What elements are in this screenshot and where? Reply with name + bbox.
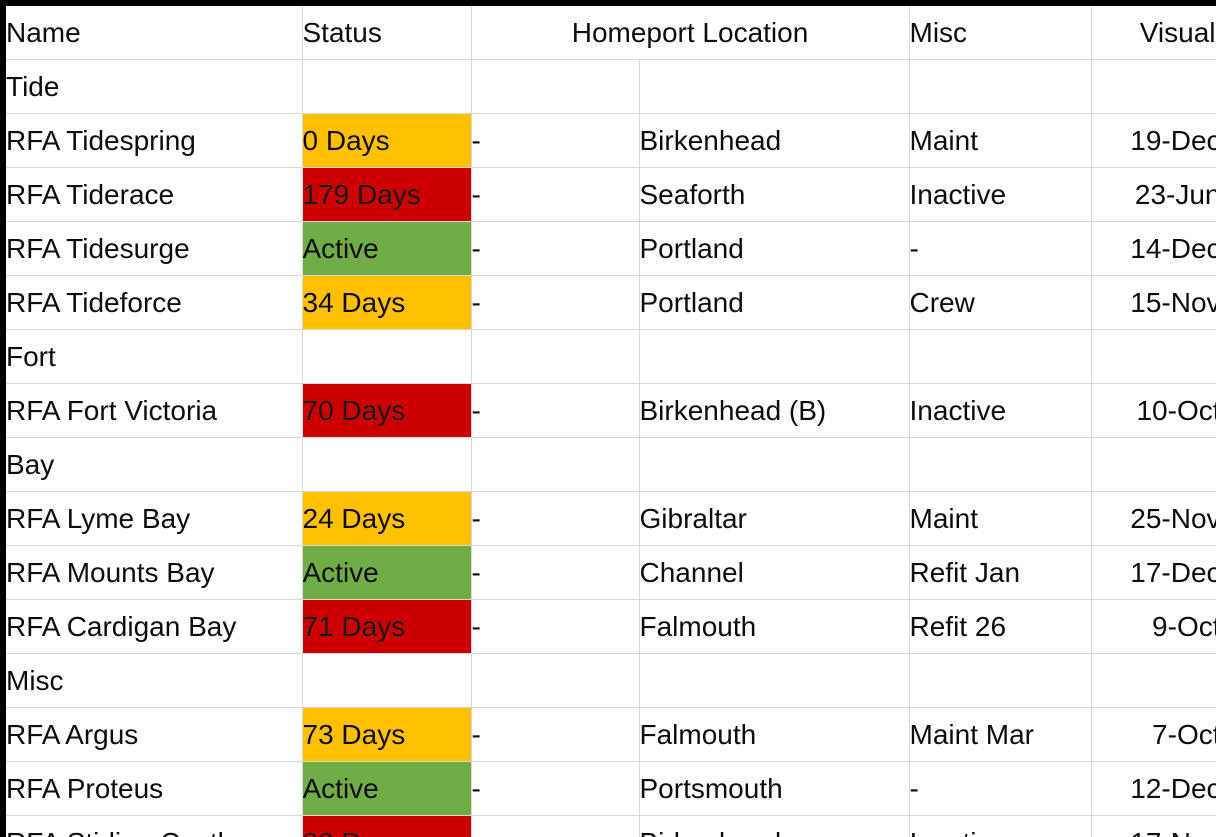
secondary-status[interactable]: - (471, 384, 639, 438)
table-row[interactable]: RFA ProteusActive-Portsmouth-12-Dec (6, 762, 1216, 816)
homeport-location[interactable]: Channel (639, 546, 909, 600)
homeport-location[interactable]: Portland (639, 276, 909, 330)
status-badge[interactable]: 71 Days (302, 600, 471, 654)
secondary-status[interactable]: - (471, 708, 639, 762)
visual-date[interactable]: 17-Nov (1091, 816, 1216, 837)
homeport-location[interactable] (639, 60, 909, 114)
homeport-location[interactable]: Birkenhead (B) (639, 384, 909, 438)
status-badge[interactable] (302, 654, 471, 708)
visual-date-text: 23-Jun (1091, 179, 1216, 211)
table-row[interactable]: RFA Argus73 Days-FalmouthMaint Mar7-Oct (6, 708, 1216, 762)
ship-name[interactable]: RFA Tidesurge (6, 222, 302, 276)
status-badge[interactable]: 34 Days (302, 276, 471, 330)
homeport-location[interactable] (639, 330, 909, 384)
status-badge[interactable]: 24 Days (302, 492, 471, 546)
misc-note[interactable] (909, 654, 1091, 708)
visual-date-text: 19-Dec (1091, 125, 1216, 157)
column-header-misc[interactable]: Misc (909, 6, 1091, 60)
secondary-status[interactable]: - (471, 816, 639, 837)
group-header-row[interactable]: Misc (6, 654, 1216, 708)
secondary-status[interactable]: - (471, 762, 639, 816)
homeport-location[interactable]: Birkenhead (639, 816, 909, 837)
secondary-status[interactable]: - (471, 546, 639, 600)
misc-note[interactable]: - (909, 762, 1091, 816)
visual-date-text: 15-Nov (1091, 287, 1216, 319)
misc-note[interactable]: Crew (909, 276, 1091, 330)
secondary-status[interactable]: - (471, 492, 639, 546)
visual-date-text: 17-Nov (1091, 827, 1216, 837)
misc-note[interactable]: Inactive (909, 816, 1091, 837)
table-row[interactable]: RFA Tideforce34 Days-PortlandCrew15-Nov (6, 276, 1216, 330)
table-row[interactable]: RFA Stirling Castle32 Days-BirkenheadIna… (6, 816, 1216, 837)
table-row[interactable]: RFA Mounts BayActive-ChannelRefit Jan17-… (6, 546, 1216, 600)
column-header-name[interactable]: Name (6, 6, 302, 60)
visual-date-text: 7-Oct (1091, 719, 1216, 751)
status-badge[interactable]: Active (302, 762, 471, 816)
status-badge[interactable]: 179 Days (302, 168, 471, 222)
status-badge[interactable] (302, 330, 471, 384)
group-header-row[interactable]: Bay (6, 438, 1216, 492)
status-badge[interactable]: Active (302, 546, 471, 600)
homeport-location[interactable]: Seaforth (639, 168, 909, 222)
secondary-status[interactable] (471, 654, 639, 708)
column-header-status[interactable]: Status (302, 6, 471, 60)
visual-date-text: 17-Dec (1091, 557, 1216, 589)
column-header-homeport-location[interactable]: Homeport Location (471, 6, 909, 60)
visual-date[interactable]: 14-Dec (1091, 222, 1216, 276)
ship-name[interactable]: RFA Mounts Bay (6, 546, 302, 600)
visual-date[interactable] (1091, 60, 1216, 114)
secondary-status[interactable]: - (471, 222, 639, 276)
homeport-location[interactable]: Portland (639, 222, 909, 276)
group-header-row[interactable]: Fort (6, 330, 1216, 384)
secondary-status[interactable] (471, 438, 639, 492)
misc-note[interactable]: Maint (909, 492, 1091, 546)
secondary-status[interactable]: - (471, 114, 639, 168)
table-row[interactable]: RFA Cardigan Bay71 Days-FalmouthRefit 26… (6, 600, 1216, 654)
misc-note[interactable]: Inactive (909, 168, 1091, 222)
table-body: TideRFA Tidespring0 Days-BirkenheadMaint… (6, 60, 1216, 837)
visual-date[interactable]: 10-Oct (1091, 384, 1216, 438)
misc-note[interactable]: Refit Jan (909, 546, 1091, 600)
group-label[interactable]: Tide (6, 60, 302, 114)
status-badge[interactable] (302, 60, 471, 114)
homeport-location[interactable] (639, 654, 909, 708)
group-header-row[interactable]: Tide (6, 60, 1216, 114)
ship-name[interactable]: RFA Cardigan Bay (6, 600, 302, 654)
visual-date[interactable]: 7-Oct (1091, 708, 1216, 762)
table-row[interactable]: RFA TidesurgeActive-Portland-14-Dec (6, 222, 1216, 276)
status-badge[interactable]: Active (302, 222, 471, 276)
visual-date[interactable] (1091, 654, 1216, 708)
visual-date[interactable] (1091, 438, 1216, 492)
visual-date[interactable]: 17-Dec (1091, 546, 1216, 600)
homeport-location[interactable]: Birkenhead (639, 114, 909, 168)
spreadsheet-frame: Name Status Homeport Location Misc Visua… (0, 0, 1216, 837)
visual-date-text: 9-Oct (1091, 611, 1216, 643)
visual-date[interactable]: 25-Nov (1091, 492, 1216, 546)
misc-note[interactable]: Maint Mar (909, 708, 1091, 762)
visual-date[interactable]: 9-Oct (1091, 600, 1216, 654)
table-row[interactable]: RFA Fort Victoria70 Days-Birkenhead (B)I… (6, 384, 1216, 438)
secondary-status[interactable]: - (471, 168, 639, 222)
misc-note[interactable]: Maint (909, 114, 1091, 168)
visual-date[interactable]: 19-Dec (1091, 114, 1216, 168)
misc-note[interactable]: Inactive (909, 384, 1091, 438)
homeport-location[interactable]: Portsmouth (639, 762, 909, 816)
secondary-status[interactable] (471, 330, 639, 384)
misc-note[interactable] (909, 330, 1091, 384)
homeport-location[interactable] (639, 438, 909, 492)
homeport-location[interactable]: Falmouth (639, 600, 909, 654)
status-badge[interactable]: 32 Days (302, 816, 471, 837)
ship-name[interactable]: RFA Tidespring (6, 114, 302, 168)
group-label[interactable]: Bay (6, 438, 302, 492)
ship-name[interactable]: RFA Lyme Bay (6, 492, 302, 546)
ship-name[interactable]: RFA Tiderace (6, 168, 302, 222)
status-badge[interactable]: 70 Days (302, 384, 471, 438)
homeport-location[interactable]: Gibraltar (639, 492, 909, 546)
status-badge[interactable]: 0 Days (302, 114, 471, 168)
ship-name[interactable]: RFA Tideforce (6, 276, 302, 330)
visual-date[interactable]: 23-Jun (1091, 168, 1216, 222)
secondary-status[interactable]: - (471, 600, 639, 654)
misc-note[interactable] (909, 438, 1091, 492)
secondary-status[interactable]: - (471, 276, 639, 330)
visual-date[interactable] (1091, 330, 1216, 384)
misc-note[interactable]: Refit 26 (909, 600, 1091, 654)
homeport-location[interactable]: Falmouth (639, 708, 909, 762)
table-row[interactable]: RFA Lyme Bay24 Days-GibraltarMaint25-Nov (6, 492, 1216, 546)
ship-name[interactable]: RFA Argus (6, 708, 302, 762)
secondary-status[interactable] (471, 60, 639, 114)
group-label[interactable]: Misc (6, 654, 302, 708)
ship-name[interactable]: RFA Fort Victoria (6, 384, 302, 438)
table-header: Name Status Homeport Location Misc Visua… (6, 6, 1216, 60)
visual-date-text: 10-Oct (1091, 395, 1216, 427)
ship-name[interactable]: RFA Proteus (6, 762, 302, 816)
column-header-visual[interactable]: Visual (1091, 6, 1216, 60)
header-row: Name Status Homeport Location Misc Visua… (6, 6, 1216, 60)
visual-date[interactable]: 15-Nov (1091, 276, 1216, 330)
misc-note[interactable] (909, 60, 1091, 114)
ship-name[interactable]: RFA Stirling Castle (6, 816, 302, 837)
group-label[interactable]: Fort (6, 330, 302, 384)
misc-note[interactable]: - (909, 222, 1091, 276)
status-badge[interactable]: 73 Days (302, 708, 471, 762)
visual-date[interactable]: 12-Dec (1091, 762, 1216, 816)
visual-date-text: 12-Dec (1091, 773, 1216, 805)
status-badge[interactable] (302, 438, 471, 492)
table-row[interactable]: RFA Tidespring0 Days-BirkenheadMaint19-D… (6, 114, 1216, 168)
table-row[interactable]: RFA Tiderace179 Days-SeaforthInactive23-… (6, 168, 1216, 222)
visual-date-text: 25-Nov (1091, 503, 1216, 535)
visual-date-text: 14-Dec (1091, 233, 1216, 265)
fleet-status-table: Name Status Homeport Location Misc Visua… (6, 6, 1216, 837)
